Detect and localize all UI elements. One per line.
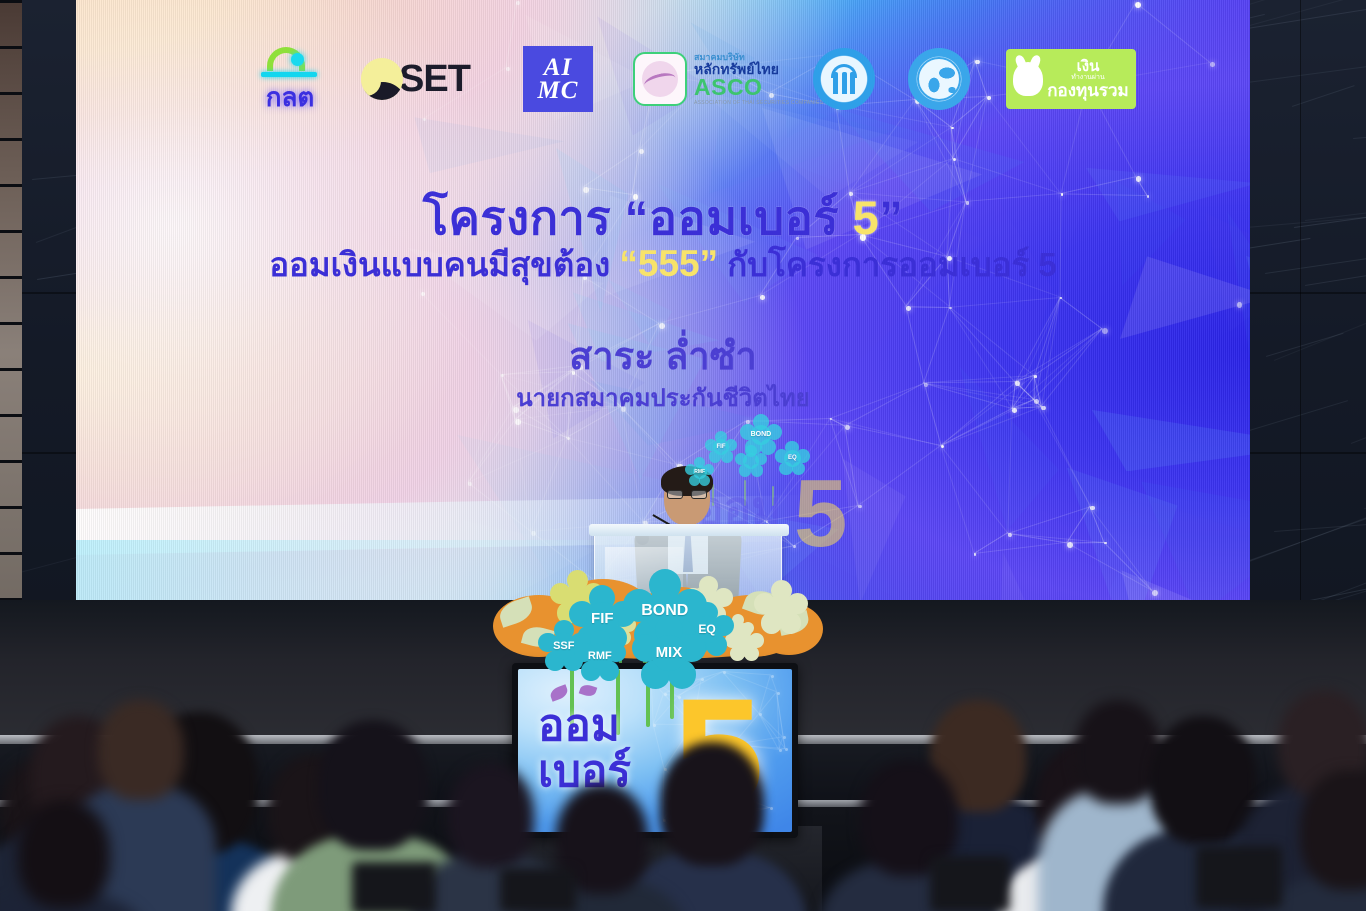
flower-shape bbox=[759, 585, 803, 629]
flower-fif: FIF bbox=[708, 434, 734, 460]
flower-label: FIF bbox=[708, 434, 734, 460]
flower-bond: BOND bbox=[744, 418, 778, 452]
audience-chair bbox=[1196, 846, 1282, 908]
flower-rmf: RMF bbox=[688, 460, 711, 483]
flower-label: RMF bbox=[688, 460, 711, 483]
flower-shape bbox=[729, 627, 760, 658]
audience-chair bbox=[352, 862, 436, 911]
screenshot-root: กลต SET AI MC สมาคมบริษัท หลักทรัพย์ bbox=[0, 0, 1366, 911]
flower-mix: MIX bbox=[639, 623, 699, 683]
audience-chair bbox=[930, 856, 1010, 911]
flower-label: BOND bbox=[744, 418, 778, 452]
audience-member bbox=[0, 0, 1366, 911]
flower-eq: EQ bbox=[778, 444, 807, 473]
audience-head bbox=[1300, 770, 1366, 890]
flower-label: RMF bbox=[579, 635, 621, 677]
audience-chair bbox=[500, 868, 576, 911]
flower-label: EQ bbox=[778, 444, 807, 473]
flower-label: MIX bbox=[639, 623, 699, 683]
flower-rmf: RMF bbox=[579, 635, 621, 677]
